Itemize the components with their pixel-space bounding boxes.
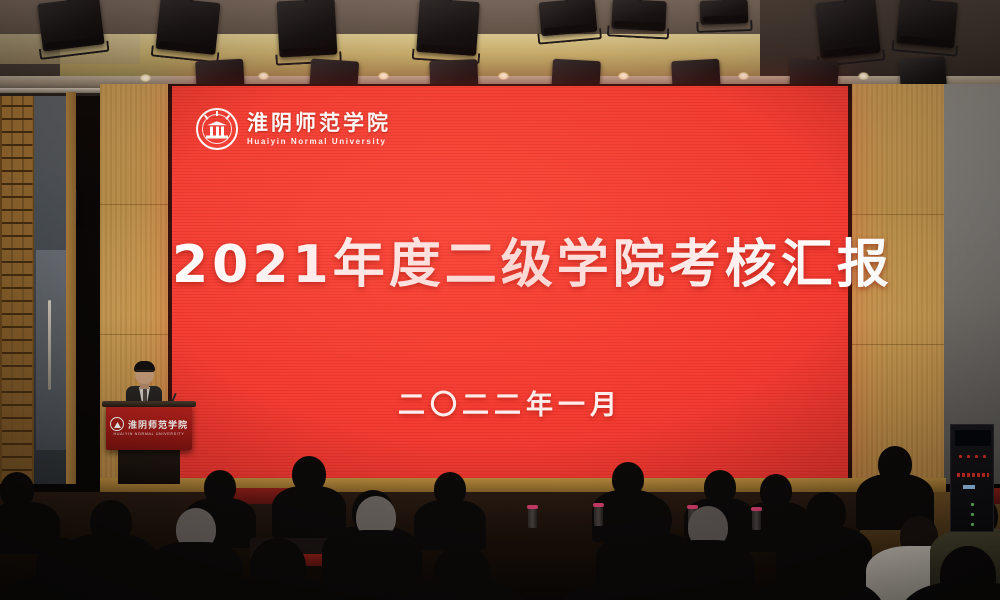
downlight	[858, 72, 869, 80]
rack-status-led	[963, 485, 975, 489]
university-name-cn: 淮阴师范学院	[247, 113, 391, 134]
stage-spotlight	[37, 0, 104, 52]
audience-shoulders	[272, 486, 346, 538]
stage-spotlight	[611, 0, 666, 31]
av-equipment-rack[interactable]	[950, 424, 994, 532]
auditorium-photo: 淮阴师范学院 Huaiyin Normal University 2021年度二…	[0, 0, 1000, 600]
eyeglasses-icon	[136, 370, 153, 375]
stage-spotlight	[539, 0, 598, 36]
downlight	[498, 72, 509, 80]
university-name-en: Huaiyin Normal University	[247, 138, 391, 146]
thermos-cup	[528, 508, 537, 528]
downlight	[618, 72, 629, 80]
downlight	[738, 72, 749, 80]
audience-shoulders	[414, 500, 486, 550]
podium-crest-icon	[110, 417, 124, 431]
university-logo: 淮阴师范学院 Huaiyin Normal University	[196, 108, 391, 150]
slide-dateline: 二〇二二年一月	[172, 383, 848, 422]
stage-spotlight	[896, 0, 958, 48]
door-handle	[48, 300, 51, 390]
audience	[0, 430, 1000, 600]
door-frame	[66, 92, 76, 484]
stage-spotlight	[277, 0, 338, 57]
stage-spotlight	[155, 0, 220, 55]
stage-spotlight	[416, 0, 480, 56]
rack-display	[955, 430, 991, 446]
podium-name-cn: 淮阴师范学院	[128, 418, 188, 431]
decorative-lattice-screen	[0, 96, 34, 484]
stage-spotlight	[700, 0, 749, 25]
stage-spotlight	[815, 0, 881, 59]
thermos-cup	[752, 510, 761, 530]
thermos-cup	[594, 506, 603, 526]
rack-level-meter	[957, 473, 989, 477]
downlight	[258, 72, 269, 80]
university-crest-icon	[196, 108, 238, 150]
slide-headline: 2021年度二级学院考核汇报	[172, 222, 848, 297]
downlight	[378, 72, 389, 80]
door-glass-panel	[36, 250, 68, 450]
downlight	[140, 74, 151, 82]
